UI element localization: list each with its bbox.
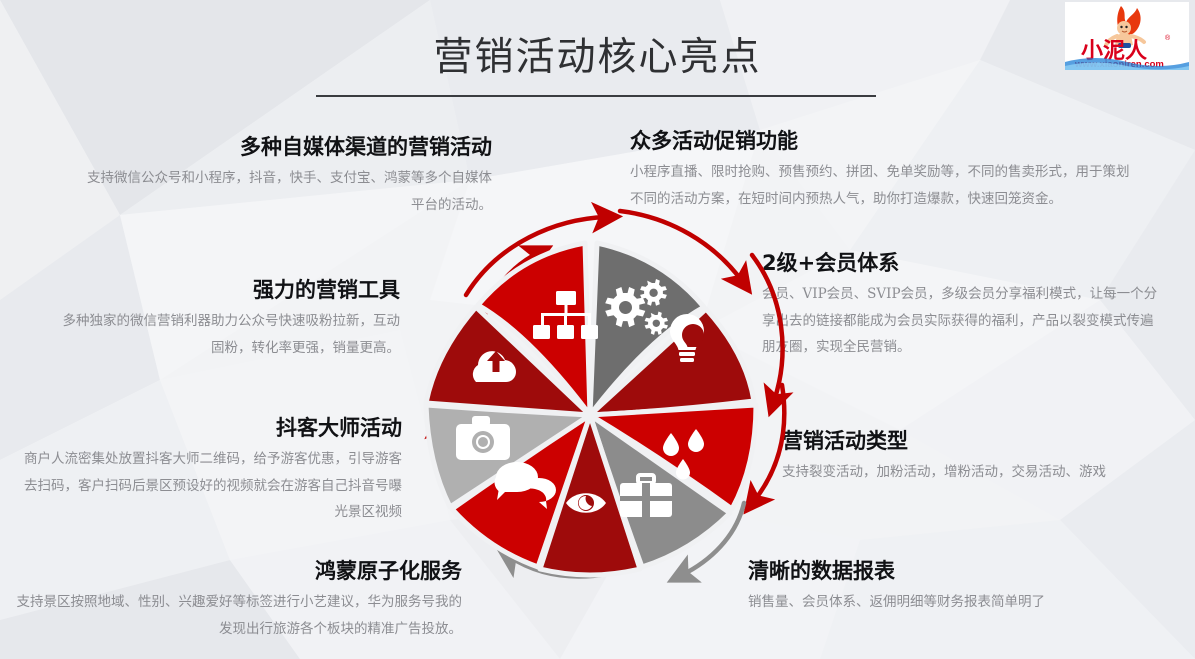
feature-block-campaign-types: 营销活动类型 支持裂变活动，加粉活动，增粉活动，交易活动、游戏 — [782, 428, 1182, 486]
feature-body: 多种独家的微信营销利器助力公众号快速吸粉拉新，互动固粉，转化率更强，销量更高。 — [60, 308, 400, 361]
feature-body: 商户人流密集处放置抖客大师二维码，给予游客优惠，引导游客去扫码，客户扫码后景区预… — [12, 446, 402, 525]
title-underline — [316, 95, 876, 97]
umbrella-diagram — [370, 185, 810, 615]
feature-block-marketing-tools: 强力的营销工具 多种独家的微信营销利器助力公众号快速吸粉拉新，互动固粉，转化率更… — [60, 277, 400, 361]
feature-title: 抖客大师活动 — [12, 415, 402, 441]
page-title: 营销活动核心亮点 — [0, 26, 1195, 82]
feature-title: 众多活动促销功能 — [630, 128, 1142, 154]
feature-title: 2级+会员体系 — [762, 250, 1162, 276]
brand-logo[interactable]: 小泥人 ® www.xiaoniren.com — [1065, 2, 1189, 70]
feature-title: 多种自媒体渠道的营销活动 — [80, 134, 492, 160]
slide-canvas: 营销活动核心亮点 小泥人 ® www.xiaoniren.com 多种自媒体渠道… — [0, 0, 1195, 659]
arrow-right-down — [752, 255, 783, 401]
feature-block-membership: 2级+会员体系 会员、VIP会员、SVIP会员，多级会员分享福利模式，让每一个分… — [762, 250, 1162, 360]
arrow-right-lower — [754, 385, 784, 501]
umbrella-petals — [426, 243, 756, 575]
feature-title: 强力的营销工具 — [60, 277, 400, 303]
registered-mark: ® — [1165, 34, 1171, 42]
feature-body: 会员、VIP会员、SVIP会员，多级会员分享福利模式，让每一个分享出去的链接都能… — [762, 281, 1162, 360]
feature-block-douke-master: 抖客大师活动 商户人流密集处放置抖客大师二维码，给予游客优惠，引导游客去扫码，客… — [12, 415, 402, 525]
feature-body: 支持裂变活动，加粉活动，增粉活动，交易活动、游戏 — [782, 459, 1182, 485]
feature-title: 营销活动类型 — [782, 428, 1182, 454]
